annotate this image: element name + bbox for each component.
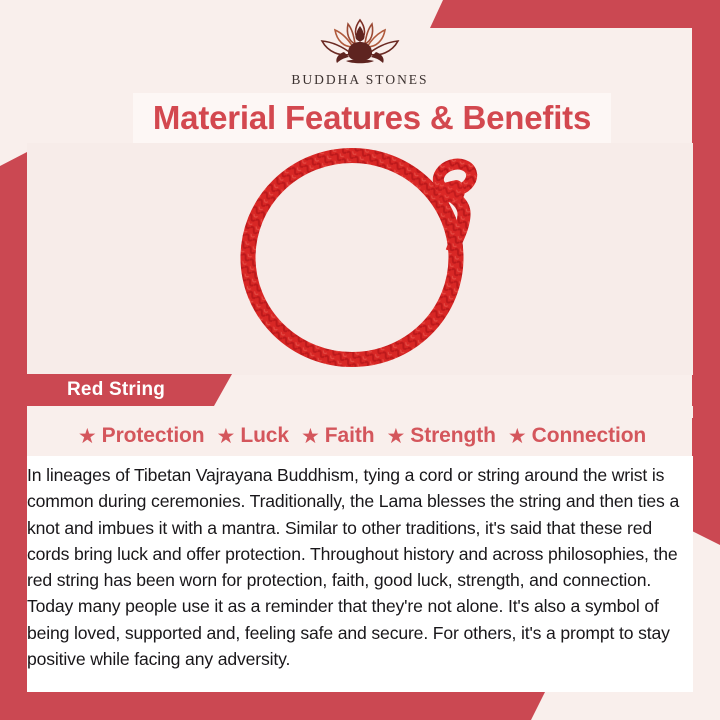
tag-spacer xyxy=(27,406,693,418)
star-icon: ★ xyxy=(78,426,97,447)
decor-band-left xyxy=(0,152,27,712)
product-tag-label: Red String xyxy=(67,379,165,401)
star-icon: ★ xyxy=(386,426,405,447)
red-string-bracelet-icon xyxy=(232,144,488,375)
page-title: Material Features & Benefits xyxy=(133,93,611,143)
decor-band-bottom xyxy=(0,692,545,720)
description-paragraph: In lineages of Tibetan Vajrayana Buddhis… xyxy=(27,462,687,672)
page-title-text: Material Features & Benefits xyxy=(153,99,591,137)
product-image xyxy=(27,143,693,375)
feature-label: Luck xyxy=(240,424,289,448)
feature-list: ★ Protection ★ Luck ★ Faith ★ Strength ★… xyxy=(27,418,697,454)
product-tag: Red String xyxy=(27,374,232,406)
description-block: In lineages of Tibetan Vajrayana Buddhis… xyxy=(27,456,693,692)
feature-item-strength: ★ Strength xyxy=(374,424,495,448)
feature-label: Strength xyxy=(410,424,496,448)
infographic-page: BUDDHA STONES Material Features & Benefi… xyxy=(0,0,720,720)
feature-label: Faith xyxy=(325,424,375,448)
star-icon: ★ xyxy=(301,426,320,447)
star-icon: ★ xyxy=(508,426,527,447)
feature-item-faith: ★ Faith xyxy=(289,424,375,448)
feature-label: Connection xyxy=(532,424,647,448)
feature-item-connection: ★ Connection xyxy=(496,424,646,448)
star-icon: ★ xyxy=(217,426,236,447)
feature-item-luck: ★ Luck xyxy=(205,424,289,448)
lotus-meditation-icon xyxy=(0,14,720,70)
brand-name: BUDDHA STONES xyxy=(0,72,720,88)
brand-header: BUDDHA STONES xyxy=(0,14,720,88)
feature-item-protection: ★ Protection xyxy=(78,424,205,448)
feature-label: Protection xyxy=(102,424,205,448)
